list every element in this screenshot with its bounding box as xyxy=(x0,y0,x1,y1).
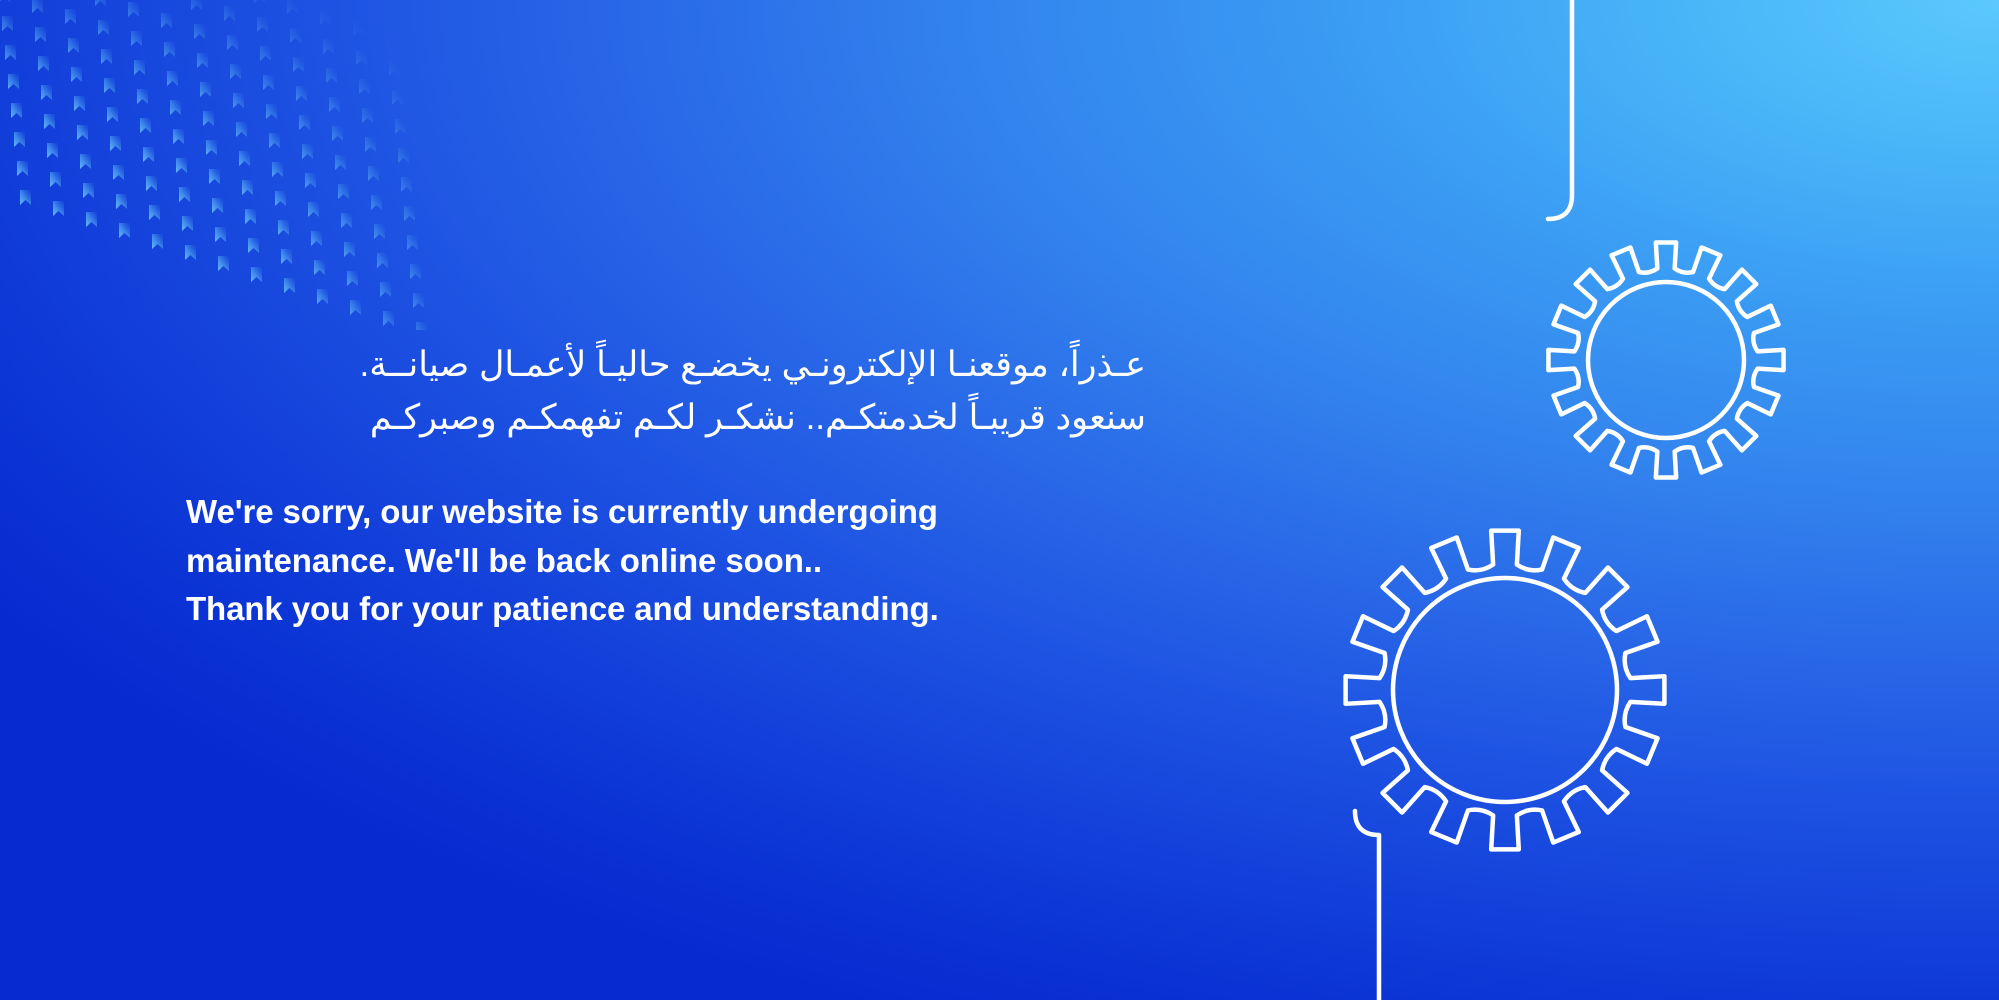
top-connector-line xyxy=(1548,0,1572,219)
lower-gear xyxy=(1346,531,1665,850)
english-line-3: Thank you for your patience and understa… xyxy=(186,585,1146,633)
english-line-2: maintenance. We'll be back online soon.. xyxy=(186,537,1146,585)
english-line-1: We're sorry, our website is currently un… xyxy=(186,488,1146,536)
lower-gear-hub xyxy=(1393,578,1617,802)
english-message: We're sorry, our website is currently un… xyxy=(186,488,1146,633)
chevron-down-pattern xyxy=(0,0,430,330)
arabic-line-1: عـذراً، موقعنـا الإلكترونـي يخضـع حاليـا… xyxy=(186,338,1146,391)
upper-gear-hub xyxy=(1588,282,1744,438)
arabic-message: عـذراً، موقعنـا الإلكترونـي يخضـع حاليـا… xyxy=(186,338,1146,444)
upper-gear xyxy=(1548,242,1783,477)
arabic-line-2: سنعود قريبـاً لخدمتكـم.. نشكـر لكـم تفهم… xyxy=(186,391,1146,444)
message-block: عـذراً، موقعنـا الإلكترونـي يخضـع حاليـا… xyxy=(186,338,1146,633)
bottom-connector-line xyxy=(1355,811,1379,1000)
maintenance-page: عـذراً، موقعنـا الإلكترونـي يخضـع حاليـا… xyxy=(0,0,1999,1000)
gear-artwork xyxy=(1099,0,1999,1000)
